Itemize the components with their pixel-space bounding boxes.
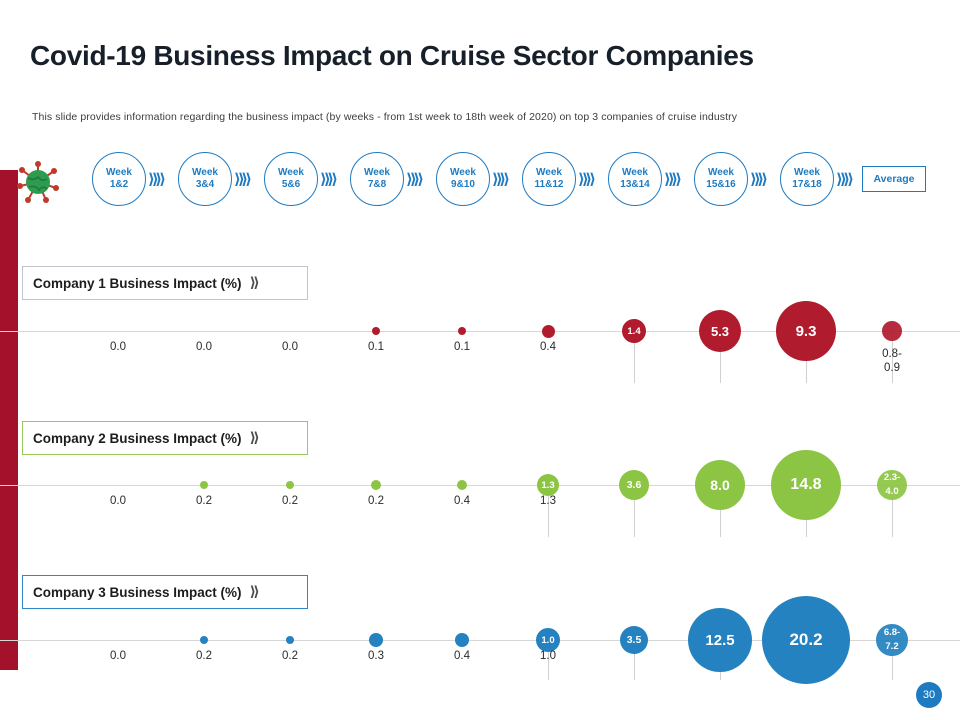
bubble-value-label: 5.3 xyxy=(711,324,729,339)
average-pill[interactable]: Average xyxy=(862,166,926,192)
week-pill-line1: Week xyxy=(622,167,648,179)
axis-value-label: 0.2 xyxy=(260,495,320,507)
bubble-1-4[interactable] xyxy=(372,327,380,335)
average-value-label: 2.3-4.0 xyxy=(870,471,914,499)
bubble-2-5[interactable] xyxy=(457,480,467,490)
section-label-text: Company 3 Business Impact (%) xyxy=(33,585,242,600)
week-pill-line2: 17&18 xyxy=(792,179,821,191)
bubble-3-9[interactable]: 20.2 xyxy=(762,596,850,684)
bubble-value-label: 3.6 xyxy=(627,479,642,491)
chevron-right-icon: ⟫ xyxy=(250,430,257,446)
bubble-2-3[interactable] xyxy=(286,481,294,489)
bubble-1-9[interactable]: 9.3 xyxy=(776,301,836,361)
page-title: Covid-19 Business Impact on Cruise Secto… xyxy=(30,40,754,72)
page-number: 30 xyxy=(916,682,942,708)
bubble-value-label: 12.5 xyxy=(705,632,734,649)
week-pill-4[interactable]: Week7&8 xyxy=(350,152,404,206)
axis-value-label: 0.1 xyxy=(432,341,492,353)
week-pill-1[interactable]: Week1&2 xyxy=(92,152,146,206)
average-value-line1: 2.3- xyxy=(870,471,914,485)
bubble-1-6[interactable] xyxy=(542,325,555,338)
nav-separator-icon: ⟫⟫ xyxy=(664,170,679,188)
week-navigation: Week1&2⟫⟫Week3&4⟫⟫Week5&6⟫⟫Week7&8⟫⟫Week… xyxy=(0,152,960,202)
section-label-company-2[interactable]: Company 2 Business Impact (%) ⟫ xyxy=(22,421,308,455)
week-pill-line2: 9&10 xyxy=(451,179,475,191)
axis-value-label: 0.0 xyxy=(88,495,148,507)
average-value-line1: 0.8- xyxy=(870,347,914,361)
axis-value-label: 1.0 xyxy=(518,650,578,662)
week-pill-line1: Week xyxy=(364,167,390,179)
nav-separator-icon: ⟫⟫ xyxy=(148,170,163,188)
left-accent-bar xyxy=(0,170,18,670)
bubble-value-label: 1.0 xyxy=(541,635,554,646)
average-value-label: 0.8-0.9 xyxy=(870,347,914,375)
axis-value-label: 0.0 xyxy=(88,341,148,353)
axis-value-label: 0.2 xyxy=(346,495,406,507)
bubble-3-4[interactable] xyxy=(369,633,383,647)
week-pill-line1: Week xyxy=(536,167,562,179)
week-pill-line1: Week xyxy=(794,167,820,179)
nav-separator-icon: ⟫⟫ xyxy=(234,170,249,188)
week-pill-line2: 5&6 xyxy=(282,179,300,191)
bubble-2-9[interactable]: 14.8 xyxy=(771,450,841,520)
axis-value-label: 0.4 xyxy=(432,495,492,507)
bubble-3-8[interactable]: 12.5 xyxy=(688,608,752,672)
bubble-2-2[interactable] xyxy=(200,481,208,489)
axis-value-label: 0.0 xyxy=(260,341,320,353)
bubble-value-label: 3.5 xyxy=(627,634,642,646)
bubble-3-7[interactable]: 3.5 xyxy=(620,626,648,654)
section-label-company-3[interactable]: Company 3 Business Impact (%) ⟫ xyxy=(22,575,308,609)
page-subtitle: This slide provides information regardin… xyxy=(32,111,737,123)
bubble-value-label: 9.3 xyxy=(796,323,817,340)
week-pill-line1: Week xyxy=(278,167,304,179)
axis-value-label: 0.3 xyxy=(346,650,406,662)
week-pill-line2: 7&8 xyxy=(368,179,386,191)
week-pill-line2: 11&12 xyxy=(535,179,564,191)
week-pill-line1: Week xyxy=(106,167,132,179)
bubble-1-10[interactable] xyxy=(882,321,902,341)
bubble-2-8[interactable]: 8.0 xyxy=(695,460,745,510)
week-pill-2[interactable]: Week3&4 xyxy=(178,152,232,206)
week-pill-6[interactable]: Week11&12 xyxy=(522,152,576,206)
axis-value-label: 1.3 xyxy=(518,495,578,507)
bubble-value-label: 8.0 xyxy=(710,477,729,493)
average-value-line2: 7.2 xyxy=(870,640,914,654)
axis-value-label: 0.1 xyxy=(346,341,406,353)
week-pill-line1: Week xyxy=(192,167,218,179)
average-value-line2: 4.0 xyxy=(870,485,914,499)
nav-separator-icon: ⟫⟫ xyxy=(750,170,765,188)
nav-separator-icon: ⟫⟫ xyxy=(320,170,335,188)
week-pill-line1: Week xyxy=(708,167,734,179)
chevron-right-icon: ⟫ xyxy=(250,584,257,600)
bubble-2-4[interactable] xyxy=(371,480,381,490)
axis-value-label: 0.4 xyxy=(432,650,492,662)
nav-separator-icon: ⟫⟫ xyxy=(492,170,507,188)
week-pill-5[interactable]: Week9&10 xyxy=(436,152,490,206)
bubble-1-5[interactable] xyxy=(458,327,466,335)
chevron-right-icon: ⟫ xyxy=(250,275,257,291)
week-pill-7[interactable]: Week13&14 xyxy=(608,152,662,206)
bubble-3-6[interactable]: 1.0 xyxy=(536,628,560,652)
axis-value-label: 0.0 xyxy=(174,341,234,353)
week-pill-line2: 15&16 xyxy=(706,179,735,191)
week-pill-8[interactable]: Week15&16 xyxy=(694,152,748,206)
bubble-value-label: 20.2 xyxy=(789,630,822,650)
axis-value-label: 0.2 xyxy=(260,650,320,662)
bubble-value-label: 14.8 xyxy=(790,476,821,494)
bubble-1-8[interactable]: 5.3 xyxy=(699,310,741,352)
axis-value-label: 0.4 xyxy=(518,341,578,353)
nav-separator-icon: ⟫⟫ xyxy=(578,170,593,188)
nav-separator-icon: ⟫⟫ xyxy=(406,170,421,188)
bubble-value-label: 1.4 xyxy=(627,326,640,337)
nav-separator-icon: ⟫⟫ xyxy=(836,170,851,188)
week-pill-9[interactable]: Week17&18 xyxy=(780,152,834,206)
average-value-line1: 6.8- xyxy=(870,626,914,640)
week-pill-3[interactable]: Week5&6 xyxy=(264,152,318,206)
bubble-3-2[interactable] xyxy=(200,636,208,644)
bubble-value-label: 1.3 xyxy=(541,480,554,491)
bubble-2-6[interactable]: 1.3 xyxy=(537,474,559,496)
bubble-3-3[interactable] xyxy=(286,636,294,644)
bubble-2-7[interactable]: 3.6 xyxy=(619,470,649,500)
week-pill-line2: 3&4 xyxy=(196,179,214,191)
axis-value-label: 0.2 xyxy=(174,650,234,662)
section-label-company-1[interactable]: Company 1 Business Impact (%) ⟫ xyxy=(22,266,308,300)
bubble-1-7[interactable]: 1.4 xyxy=(622,319,646,343)
week-pill-line1: Week xyxy=(450,167,476,179)
axis-value-label: 0.0 xyxy=(88,650,148,662)
week-pill-line2: 1&2 xyxy=(110,179,128,191)
section-label-text: Company 1 Business Impact (%) xyxy=(33,276,242,291)
bubble-3-5[interactable] xyxy=(455,633,469,647)
average-value-line2: 0.9 xyxy=(870,361,914,375)
axis-value-label: 0.2 xyxy=(174,495,234,507)
week-pill-line2: 13&14 xyxy=(620,179,649,191)
section-label-text: Company 2 Business Impact (%) xyxy=(33,431,242,446)
average-pill-label: Average xyxy=(873,173,914,185)
average-value-label: 6.8-7.2 xyxy=(870,626,914,654)
